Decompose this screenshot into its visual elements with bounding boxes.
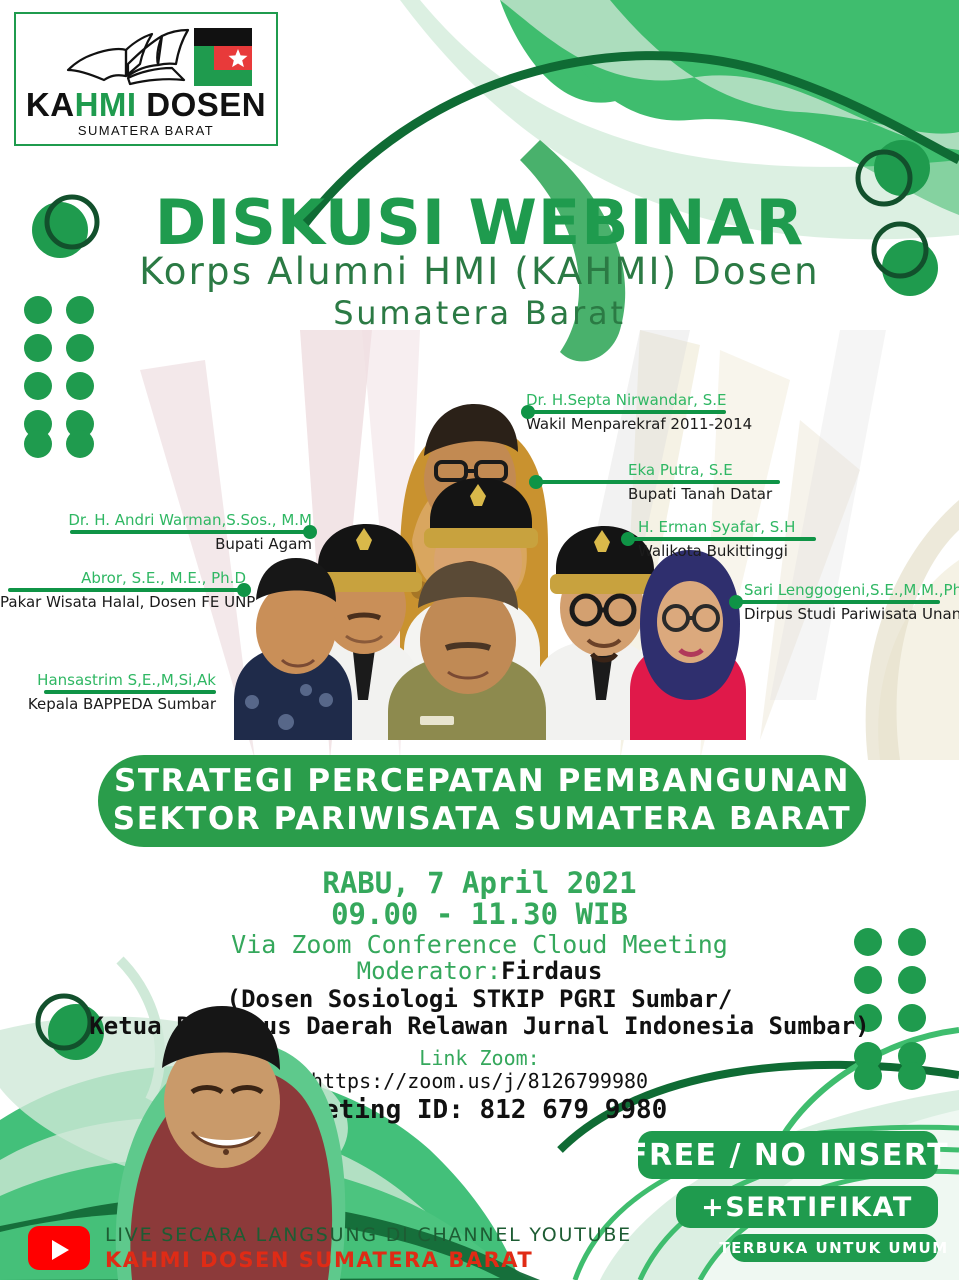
speaker-callout-erman: H. Erman Syafar, S.H Walikota Bukittingg…: [638, 519, 938, 560]
speaker-role: Dirpus Studi Pariwisata Unand: [744, 605, 959, 623]
callout-dot: [729, 595, 743, 609]
open-book-icon: [16, 18, 280, 100]
youtube-live-text: LIVE SECARA LANGSUNG DI CHANNEL YOUTUBE: [105, 1224, 632, 1246]
photo-center-official: [404, 478, 540, 740]
logo-subtitle: SUMATERA BARAT: [78, 123, 214, 138]
speaker-callout-hansastrim: Hansastrim S,E.,M,Si,Ak Kepala BAPPEDA S…: [0, 672, 216, 713]
callout-dot: [621, 532, 635, 546]
speaker-name: Abror, S.E., M.E., Ph.D: [0, 570, 246, 587]
speaker-name: Dr. H. Andri Warman,S.Sos., M.M: [0, 512, 312, 529]
theme-banner: STRATEGI PERCEPATAN PEMBANGUNAN SEKTOR P…: [98, 755, 866, 847]
callout-rule: [534, 480, 780, 484]
zoom-meeting-id: Meeting ID: 812 679 9980: [0, 1095, 959, 1125]
theme-line-2: SEKTOR PARIWISATA SUMATERA BARAT: [113, 801, 851, 839]
photo-far-left: [234, 558, 352, 740]
callout-rule: [8, 588, 246, 592]
callout-rule: [526, 410, 726, 414]
event-time: 09.00 - 11.30 WIB: [0, 897, 959, 931]
speaker-role: Kepala BAPPEDA Sumbar: [0, 695, 216, 713]
speaker-role: Walikota Bukittinggi: [638, 542, 938, 560]
zoom-url[interactable]: https://zoom.us/j/8126799980: [0, 1069, 959, 1093]
youtube-play-triangle: [52, 1240, 69, 1260]
callout-dot: [529, 475, 543, 489]
speaker-role: Pakar Wisata Halal, Dosen FE UNP: [0, 593, 246, 611]
speaker-role: Wakil Menparekraf 2011-2014: [526, 415, 826, 433]
speaker-name: Sari Lenggogeni,S.E.,M.M.,Ph.D: [744, 582, 959, 599]
photo-front-center: [388, 562, 546, 740]
badge-open-to-public: TERBUKA UNTUK UMUM: [730, 1234, 938, 1262]
callout-rule: [626, 537, 816, 541]
subtitle-line-1: Korps Alumni HMI (KAHMI) Dosen: [0, 250, 959, 293]
moderator-name: Firdaus: [501, 957, 602, 985]
moderator-label: Moderator:: [357, 957, 502, 985]
speaker-name: Hansastrim S,E.,M,Si,Ak: [0, 672, 216, 689]
subtitle-line-2: Sumatera Barat: [0, 294, 959, 332]
zoom-link-label: Link Zoom:: [0, 1046, 959, 1070]
speaker-name: Eka Putra, S.E: [628, 462, 928, 479]
speaker-name: Dr. H.Septa Nirwandar, S.E: [526, 392, 826, 409]
callout-rule: [70, 530, 312, 534]
photo-septa-nirwandar: [400, 404, 548, 740]
badge-certificate: +SERTIFIKAT: [676, 1186, 938, 1228]
moderator-affiliation-2: Ketua Pengurus Daerah Relawan Jurnal Ind…: [0, 1012, 959, 1040]
speaker-callout-abror: Abror, S.E., M.E., Ph.D Pakar Wisata Hal…: [0, 570, 246, 611]
badge-free: FREE / NO INSERT: [638, 1131, 938, 1179]
speaker-callout-sari: Sari Lenggogeni,S.E.,M.M.,Ph.D Dirpus St…: [744, 582, 959, 623]
callout-rule: [734, 600, 940, 604]
speaker-role: Bupati Agam: [0, 535, 312, 553]
speaker-role: Bupati Tanah Datar: [628, 485, 928, 503]
speaker-callout-eka: Eka Putra, S.E Bupati Tanah Datar: [628, 462, 928, 503]
event-date: RABU, 7 April 2021: [0, 866, 959, 900]
photo-right-woman: [630, 550, 746, 740]
speaker-callout-andri: Dr. H. Andri Warman,S.Sos., M.M Bupati A…: [0, 512, 312, 553]
kahmi-logo: KAHMI DOSEN SUMATERA BARAT: [14, 12, 278, 146]
callout-dot: [303, 525, 317, 539]
moderator-affiliation-1: (Dosen Sosiologi STKIP PGRI Sumbar/: [0, 985, 959, 1013]
webinar-poster: KAHMI DOSEN SUMATERA BARAT DISKUSI WEBIN…: [0, 0, 959, 1280]
event-platform: Via Zoom Conference Cloud Meeting: [0, 930, 959, 959]
photo-left-official: [296, 524, 422, 740]
moderator-line: Moderator:Firdaus: [0, 957, 959, 985]
callout-rule: [44, 690, 216, 694]
speaker-name: H. Erman Syafar, S.H: [638, 519, 938, 536]
speaker-callout-septa: Dr. H.Septa Nirwandar, S.E Wakil Menpare…: [526, 392, 826, 433]
page-title: DISKUSI WEBINAR: [0, 186, 959, 259]
youtube-channel-name: KAHMI DOSEN SUMATERA BARAT: [105, 1248, 533, 1272]
theme-line-1: STRATEGI PERCEPATAN PEMBANGUNAN: [114, 763, 850, 801]
